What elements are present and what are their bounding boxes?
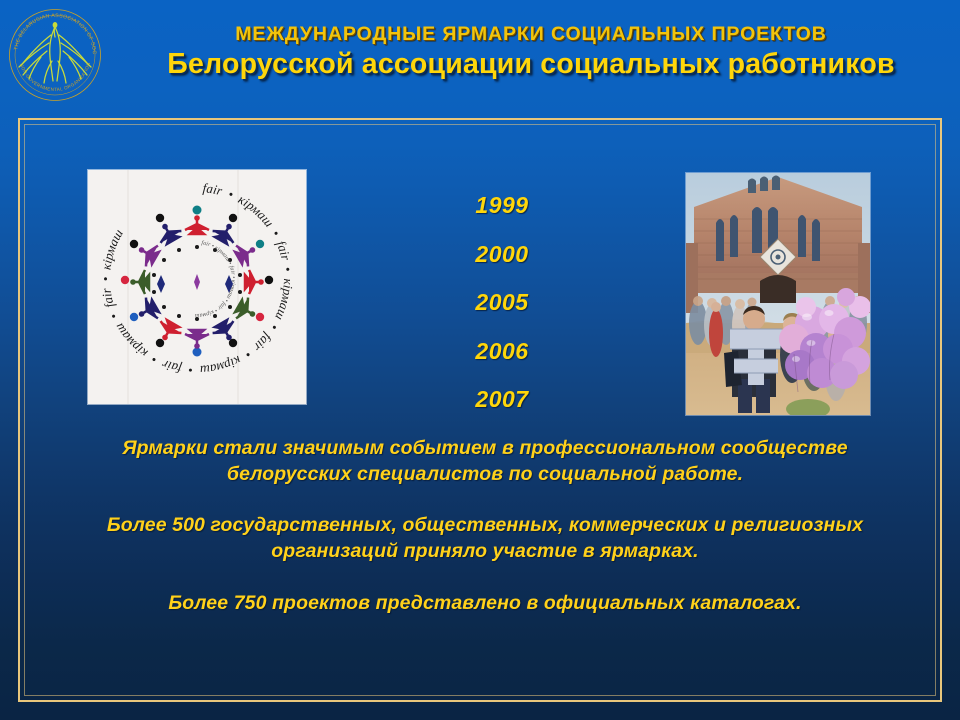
year-item: 2000 (432, 241, 572, 268)
bass-logo: THE BELARUSIAN ASSOCIATION OF SOCIAL WOR… (5, 5, 105, 105)
year-item: 2005 (432, 289, 572, 316)
year-item: 2007 (432, 386, 572, 413)
paragraph-3: Более 750 проектов представлено в официа… (70, 591, 900, 617)
body-text-block: Ярмарки стали значимым событием в профес… (70, 436, 900, 617)
year-item: 2006 (432, 338, 572, 365)
year-item: 1999 (432, 192, 572, 219)
fair-event-photo (686, 173, 870, 415)
paragraph-1: Ярмарки стали значимым событием в профес… (70, 436, 900, 487)
title-line-1: МЕЖДУНАРОДНЫЕ ЯРМАРКИ СОЦИАЛЬНЫХ ПРОЕКТО… (110, 24, 952, 44)
years-list: 1999 2000 2005 2006 2007 (432, 192, 572, 413)
presentation-slide: THE BELARUSIAN ASSOCIATION OF SOCIAL WOR… (0, 0, 960, 720)
svg-text:THE BELARUSIAN ASSOCIATION OF: THE BELARUSIAN ASSOCIATION OF SOCIAL WOR… (5, 5, 97, 55)
title-block: МЕЖДУНАРОДНЫЕ ЯРМАРКИ СОЦИАЛЬНЫХ ПРОЕКТО… (110, 24, 952, 80)
paragraph-2: Более 500 государственных, общественных,… (70, 513, 900, 564)
title-line-2: Белорусской ассоциации социальных работн… (110, 49, 952, 80)
fair-circle-emblem-image: fair • кірмаш • fair • кірмаш • fair • к… (88, 170, 306, 404)
slide-header: THE BELARUSIAN ASSOCIATION OF SOCIAL WOR… (0, 0, 960, 112)
